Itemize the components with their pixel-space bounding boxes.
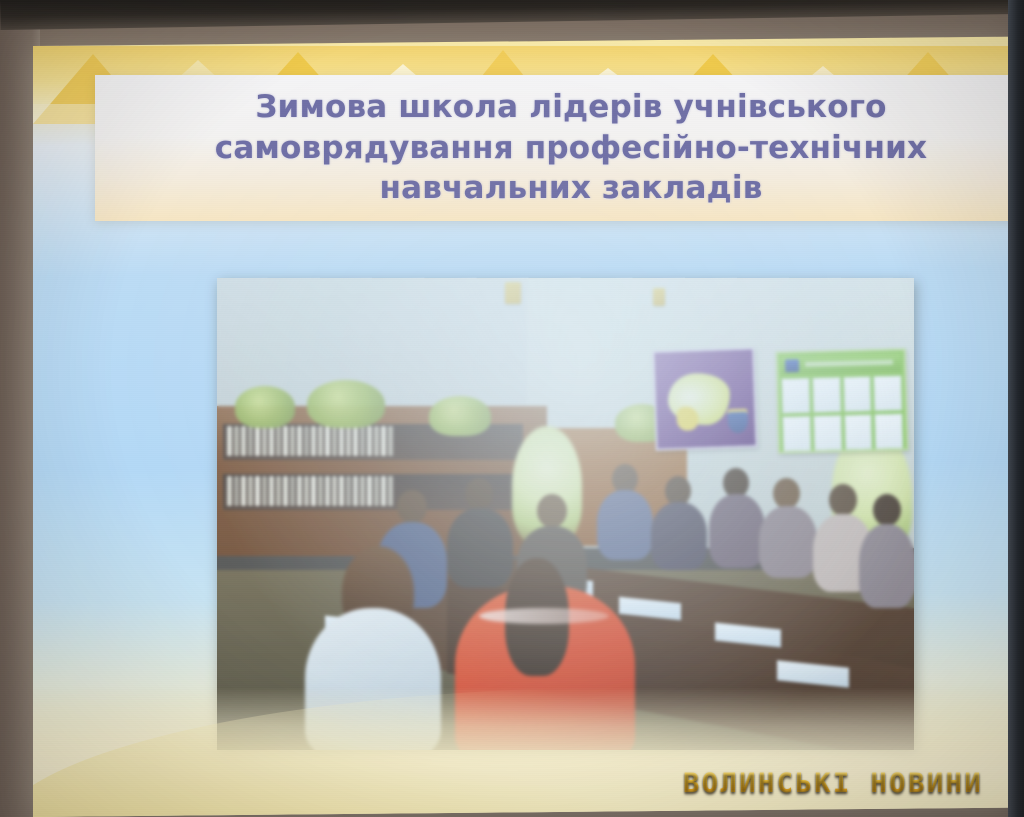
news-watermark: ВОЛИНСЬКІ НОВИНИ bbox=[683, 768, 983, 799]
potted-plant-icon bbox=[429, 396, 491, 436]
board-header bbox=[781, 353, 901, 374]
board-panel-grid bbox=[781, 375, 903, 451]
wall-information-board bbox=[776, 348, 909, 453]
participant-body bbox=[651, 502, 707, 570]
participant-head bbox=[397, 490, 427, 524]
participant-body bbox=[447, 508, 513, 588]
gold-decoration-icon bbox=[653, 288, 665, 306]
participant-body bbox=[859, 524, 914, 608]
slide-photo-frame bbox=[217, 278, 914, 750]
coat-of-arms-icon bbox=[727, 409, 748, 434]
participant-body bbox=[709, 494, 765, 568]
page-title: Зимова школа лідерів учнівського самовря… bbox=[109, 87, 1014, 210]
participant-head bbox=[537, 494, 567, 528]
wall-right-edge bbox=[1008, 0, 1024, 817]
participant-body bbox=[597, 490, 653, 560]
hoodie-drawstring bbox=[479, 608, 609, 624]
participant-head bbox=[829, 484, 857, 516]
potted-plant-icon bbox=[307, 380, 385, 428]
potted-plant-icon bbox=[235, 386, 295, 428]
gold-decoration-icon bbox=[505, 282, 521, 304]
slide-photo bbox=[217, 278, 914, 750]
participant-body bbox=[759, 506, 817, 578]
participant-head bbox=[773, 478, 800, 509]
projected-slide: Зимова школа лідерів учнівського самовря… bbox=[33, 37, 1014, 817]
screenshot-stage: Зимова школа лідерів учнівського самовря… bbox=[0, 0, 1024, 817]
board-emblem-icon bbox=[785, 359, 799, 372]
participant-head bbox=[465, 478, 493, 510]
participant-head bbox=[873, 494, 901, 526]
wall-poster-ukraine-map bbox=[652, 347, 757, 450]
slide-title-panel: Зимова школа лідерів учнівського самовря… bbox=[95, 75, 1014, 221]
